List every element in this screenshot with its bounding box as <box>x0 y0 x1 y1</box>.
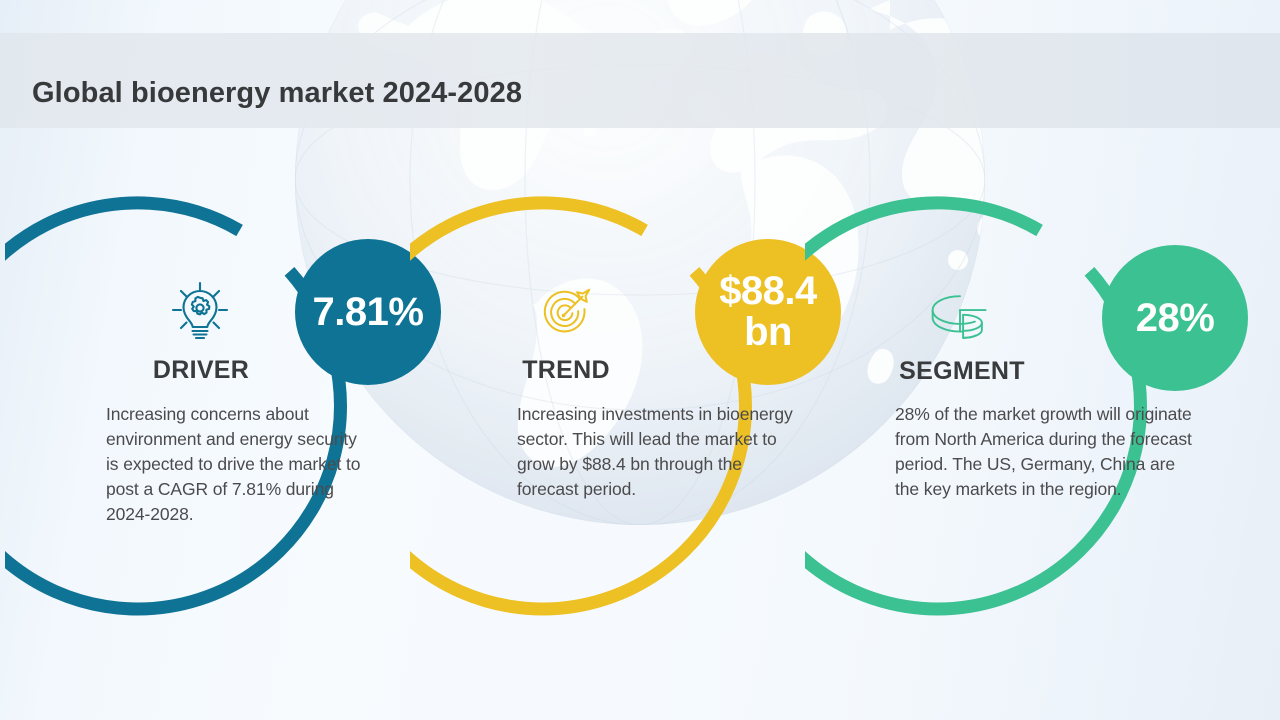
badge-value-driver: 7.81% <box>313 292 424 333</box>
card-body-driver: Increasing concerns about environment an… <box>106 402 368 527</box>
badge-value-segment: 28% <box>1136 298 1215 339</box>
card-body-segment: 28% of the market growth will originate … <box>895 402 1195 502</box>
card-body-trend: Increasing investments in bioenergy sect… <box>517 402 802 502</box>
badge-segment: 28% <box>1102 245 1248 391</box>
card-heading-trend: TREND <box>436 356 696 385</box>
lightbulb-gear-icon <box>160 278 240 346</box>
target-arrow-icon <box>525 280 605 348</box>
card-driver: DRIVER Increasing concerns about environ… <box>5 0 475 720</box>
pie-chart-icon <box>920 285 1000 353</box>
card-segment: SEGMENT 28% of the market growth will or… <box>805 0 1275 720</box>
infographic-stage: Global bioenergy market 2024-2028 <box>0 0 1280 720</box>
card-heading-segment: SEGMENT <box>832 357 1092 386</box>
card-heading-driver: DRIVER <box>71 356 331 385</box>
